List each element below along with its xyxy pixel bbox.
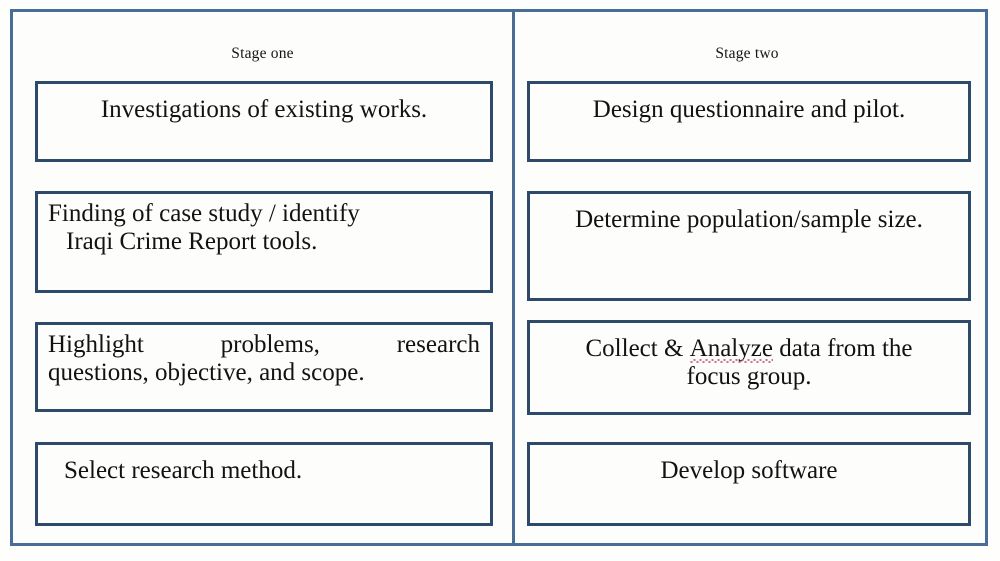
- step-text-case-study-line2: Iraqi Crime Report tools.: [48, 228, 480, 256]
- step-text-highlight-problems-line1: Highlight problems, research: [48, 331, 480, 359]
- step-box-collect-analyze[interactable]: Collect & Analyze data from the focus gr…: [527, 320, 971, 415]
- step-text-determine-population: Determine population/sample size.: [530, 194, 968, 234]
- step-text-case-study: Finding of case study / identify Iraqi C…: [38, 194, 490, 257]
- step-box-develop-software[interactable]: Develop software: [527, 442, 971, 526]
- step-text-collect-analyze-line2: focus group.: [540, 363, 958, 391]
- spellcheck-word-analyze: Analyze: [690, 335, 773, 362]
- step-text-design-questionnaire: Design questionnaire and pilot.: [530, 84, 968, 124]
- step-text-collect-analyze: Collect & Analyze data from the focus gr…: [530, 323, 968, 392]
- step-text-collect-analyze-suffix: data from the: [773, 335, 913, 362]
- step-box-determine-population[interactable]: Determine population/sample size.: [527, 191, 971, 301]
- diagram-outer-frame: Stage one Investigations of existing wor…: [10, 9, 988, 546]
- step-text-select-method: Select research method.: [38, 445, 490, 485]
- stage-two-header: Stage two: [527, 12, 967, 72]
- stage-two-column: Stage two Design questionnaire and pilot…: [515, 12, 985, 543]
- step-text-highlight-problems: Highlight problems, research questions, …: [38, 325, 490, 388]
- step-box-design-questionnaire[interactable]: Design questionnaire and pilot.: [527, 81, 971, 162]
- step-text-investigations: Investigations of existing works.: [38, 84, 490, 124]
- step-box-select-method[interactable]: Select research method.: [35, 442, 493, 526]
- stage-one-header: Stage one: [35, 12, 490, 72]
- step-box-highlight-problems[interactable]: Highlight problems, research questions, …: [35, 322, 493, 412]
- step-text-develop-software: Develop software: [530, 445, 968, 485]
- step-box-investigations[interactable]: Investigations of existing works.: [35, 81, 493, 162]
- step-box-case-study[interactable]: Finding of case study / identify Iraqi C…: [35, 191, 493, 293]
- step-text-case-study-line1: Finding of case study / identify: [48, 200, 360, 227]
- step-text-highlight-problems-line2: questions, objective, and scope.: [48, 359, 480, 387]
- stage-one-column: Stage one Investigations of existing wor…: [13, 12, 515, 543]
- diagram-canvas: Stage one Investigations of existing wor…: [0, 0, 1000, 561]
- step-text-collect-analyze-prefix: Collect &: [586, 335, 684, 362]
- stage-two-content: Stage two Design questionnaire and pilot…: [515, 12, 985, 543]
- stage-one-content: Stage one Investigations of existing wor…: [13, 12, 512, 543]
